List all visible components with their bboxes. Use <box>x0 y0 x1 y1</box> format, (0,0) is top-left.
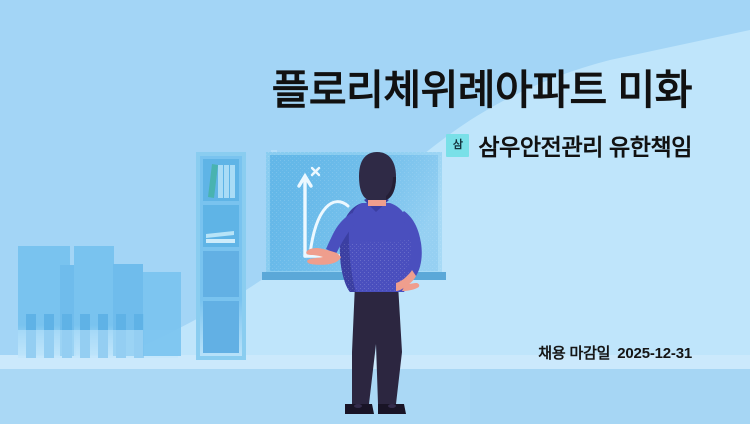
deadline-date: 2025-12-31 <box>617 345 692 362</box>
deadline-row: 채용 마감일2025-12-31 <box>538 342 692 363</box>
floor-strip <box>0 355 750 424</box>
radiator <box>18 246 181 358</box>
company-badge: 삼 <box>446 134 469 157</box>
job-posting-banner: 플로리체위례아파트 미화 삼 삼우안전관리 유한책임 채용 마감일2025-12… <box>0 0 750 424</box>
page-title: 플로리체위례아파트 미화 <box>272 68 692 114</box>
company-row: 삼 삼우안전관리 유한책임 <box>446 128 692 162</box>
bookshelf <box>196 152 246 360</box>
deadline-label: 채용 마감일 <box>538 345 610 362</box>
company-name: 삼우안전관리 유한책임 <box>478 128 692 162</box>
